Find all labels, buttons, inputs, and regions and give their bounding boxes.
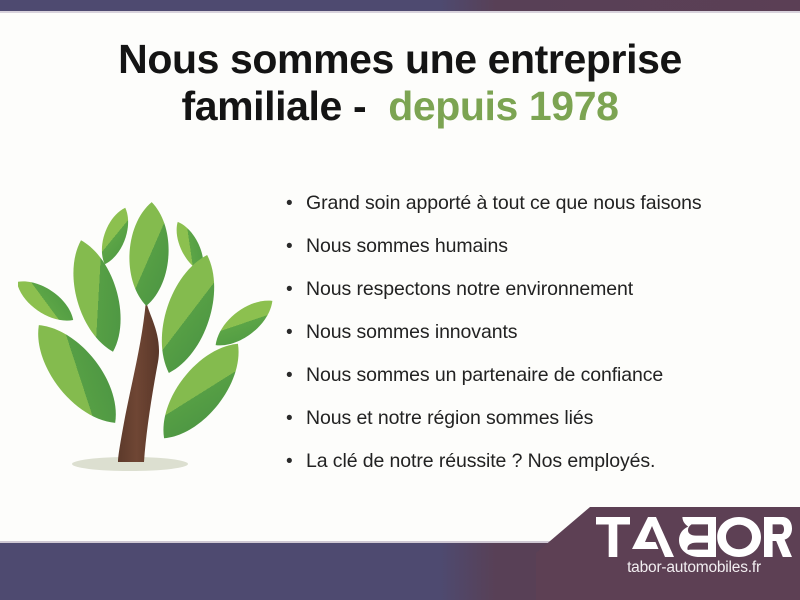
bullet-dot-icon: • (286, 194, 306, 213)
bullet-dot-icon: • (286, 237, 306, 256)
tree-illustration (18, 196, 280, 488)
tree-icon (18, 196, 280, 488)
list-item-label: Nous respectons notre environnement (306, 278, 633, 301)
tabor-logo-icon (596, 517, 792, 557)
bullet-dot-icon: • (286, 323, 306, 342)
top-bar-hairline (0, 11, 800, 13)
list-item: • Grand soin apporté à tout ce que nous … (286, 192, 786, 235)
bullet-dot-icon: • (286, 366, 306, 385)
title-dash: - (353, 83, 366, 129)
list-item: • Nous sommes humains (286, 235, 786, 278)
list-item-label: Nous sommes innovants (306, 321, 517, 344)
page-title: Nous sommes une entreprise familiale - d… (0, 36, 800, 129)
list-item: • Nous sommes innovants (286, 321, 786, 364)
list-item-label: La clé de notre réussite ? Nos employés. (306, 450, 655, 473)
title-line-2: familiale - depuis 1978 (0, 83, 800, 130)
top-accent-bar (0, 0, 800, 11)
bullet-dot-icon: • (286, 280, 306, 299)
logo-banner[interactable]: tabor-automobiles.fr (536, 507, 800, 600)
bullet-dot-icon: • (286, 409, 306, 428)
bullet-list: • Grand soin apporté à tout ce que nous … (286, 192, 786, 493)
list-item-label: Nous sommes humains (306, 235, 508, 258)
title-line-1: Nous sommes une entreprise (0, 36, 800, 83)
title-accent: depuis 1978 (388, 83, 618, 129)
slide-canvas: Nous sommes une entreprise familiale - d… (0, 0, 800, 600)
list-item-label: Nous sommes un partenaire de confiance (306, 364, 663, 387)
tree-trunk (118, 300, 159, 462)
logo-inner: tabor-automobiles.fr (536, 507, 800, 600)
tabor-wordmark (596, 517, 792, 557)
list-item: • Nous sommes un partenaire de confiance (286, 364, 786, 407)
list-item: • Nous et notre région sommes liés (286, 407, 786, 450)
logo-url[interactable]: tabor-automobiles.fr (596, 559, 792, 577)
title-line-2-prefix: familiale (181, 83, 341, 129)
list-item-label: Grand soin apporté à tout ce que nous fa… (306, 192, 702, 215)
list-item: • Nous respectons notre environnement (286, 278, 786, 321)
list-item: • La clé de notre réussite ? Nos employé… (286, 450, 786, 493)
bullet-dot-icon: • (286, 452, 306, 471)
list-item-label: Nous et notre région sommes liés (306, 407, 593, 430)
